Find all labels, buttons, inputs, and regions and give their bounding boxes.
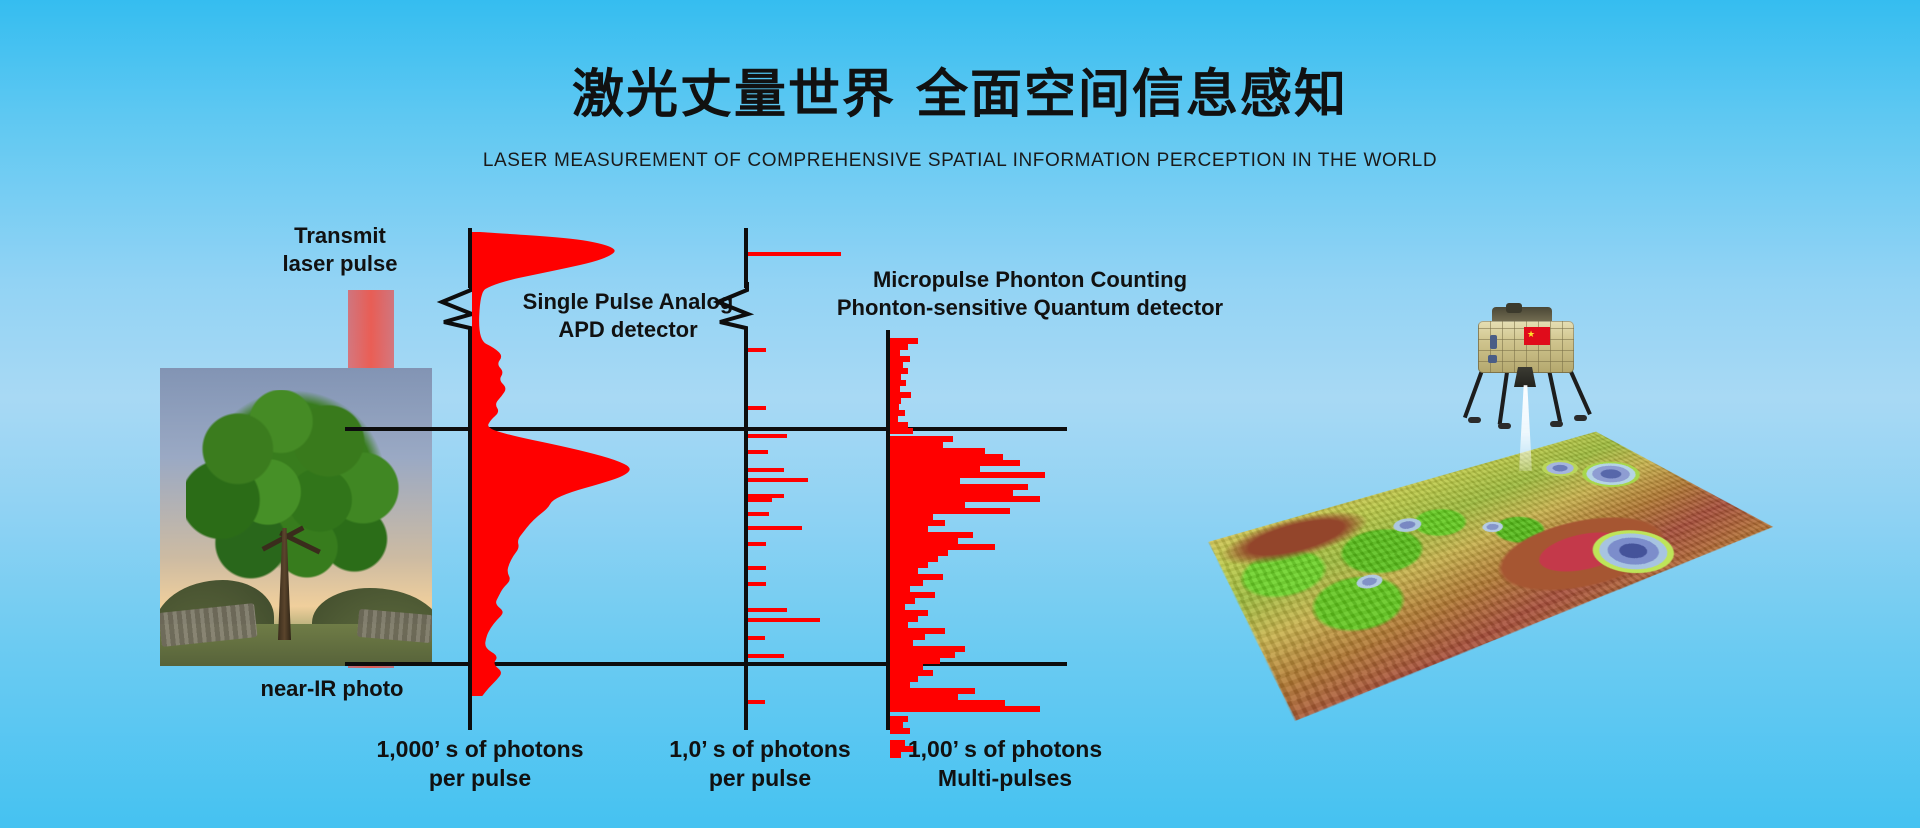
waveform-bar [748,468,784,472]
waveform-bar [748,700,765,704]
waveform-bar [748,478,808,482]
lander-foot [1574,415,1587,421]
lander-antenna [1506,303,1522,313]
waveform-bar [748,566,766,570]
photo-tree-canopy [186,390,402,586]
waveform-bar [748,252,841,256]
lander-leg [1498,365,1510,425]
waveform-bar [748,498,772,502]
waveform-bar [890,428,913,434]
lander-foot [1550,421,1563,427]
footer-label-multi-pulse: 1,00’ s of photons Multi-pulses [880,735,1130,794]
waveform-bar [748,434,787,438]
waveform-bar [748,512,769,516]
page-title: 激光丈量世界 全面空间信息感知 [0,52,1920,127]
waveform-bar [748,406,766,410]
waveform-bar [748,608,787,612]
terrain-elevation-model [1188,427,1788,731]
lunar-lander: ★ [1462,303,1590,423]
lander-port [1490,335,1497,349]
lander-engine-plume [1519,385,1532,471]
waveform-bar [748,348,766,352]
waveform-bar [890,728,910,734]
transmit-laser-pulse-label: Transmit laser pulse [230,222,450,278]
footer-label-single-photon: 1,0’ s of photons per pulse [640,735,880,794]
waveform-bar [748,582,766,586]
waveform-bar [748,636,765,640]
waveform-bar [890,706,1040,712]
waveform-bar [748,618,820,622]
lander-leg [1546,365,1562,423]
footer-label-analog: 1,000’ s of photons per pulse [350,735,610,794]
poster-stage: 激光丈量世界 全面空间信息感知 LASER MEASUREMENT OF COM… [0,0,1920,828]
near-ir-photo-caption: near-IR photo [212,675,452,703]
waveform-bar [748,542,766,546]
page-subtitle: LASER MEASUREMENT OF COMPREHENSIVE SPATI… [0,150,1920,172]
chinese-flag-icon: ★ [1524,327,1550,345]
lander-foot [1498,423,1511,429]
lander-port [1488,355,1497,363]
near-ir-photo [160,368,432,666]
lidar-terrain-visualization: ★ [1190,275,1800,725]
waveform-bar [748,526,802,530]
waveform-bar [748,654,784,658]
micropulse-detector-label: Micropulse Phonton Counting Phonton-sens… [820,266,1240,322]
lander-foot [1468,417,1481,423]
waveform-bar [748,450,768,454]
